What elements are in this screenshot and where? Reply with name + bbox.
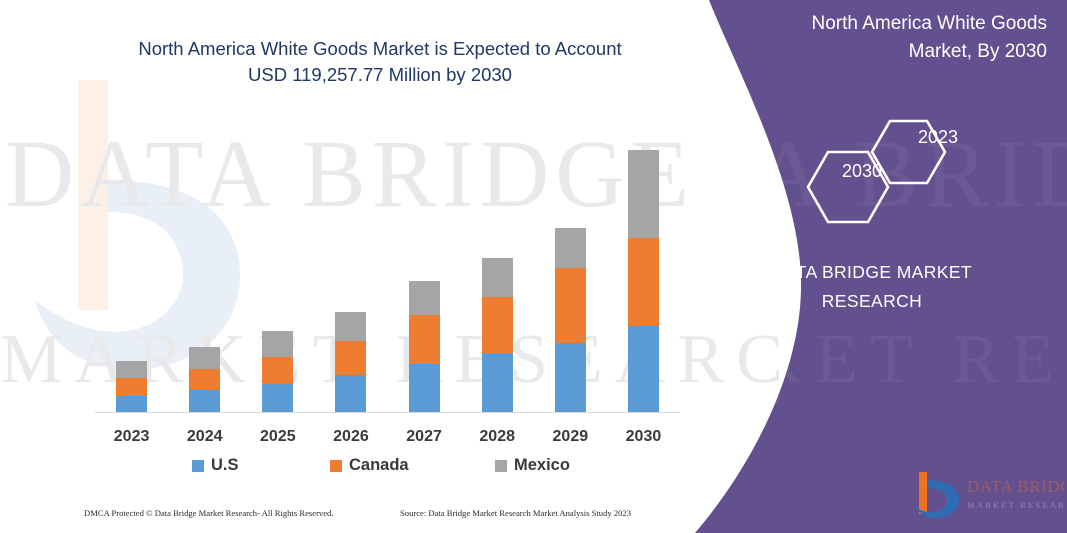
logo-text-line-1: DATA BRIDGE bbox=[967, 477, 1065, 496]
legend-swatch-icon bbox=[192, 460, 204, 472]
side-panel-content: DATA BRIDGE MARKET RESEARCH North Americ… bbox=[677, 0, 1067, 533]
chart-title-line-1: North America White Goods Market is Expe… bbox=[60, 36, 700, 62]
logo-mark bbox=[915, 472, 959, 518]
bar-segment-2027-canada bbox=[409, 315, 440, 364]
legend-label: Mexico bbox=[514, 456, 570, 475]
legend-swatch-icon bbox=[330, 460, 342, 472]
bar-2029 bbox=[555, 228, 586, 412]
bar-segment-2030-us bbox=[628, 326, 659, 412]
chart-legend: U.SCanadaMexico bbox=[95, 456, 685, 480]
x-axis-label-2025: 2025 bbox=[242, 428, 313, 446]
side-panel-brand-line-2: RESEARCH bbox=[722, 287, 1022, 316]
bar-2030 bbox=[628, 150, 659, 412]
bar-segment-2029-mexico bbox=[555, 228, 586, 268]
bar-segment-2028-mexico bbox=[482, 258, 513, 297]
side-panel-brand-line-1: DATA BRIDGE MARKET bbox=[722, 258, 1022, 287]
bar-segment-2028-canada bbox=[482, 297, 513, 353]
bar-segment-2024-mexico bbox=[189, 347, 220, 369]
side-panel-brand: DATA BRIDGE MARKET RESEARCH bbox=[722, 258, 1022, 316]
x-axis-labels: 20232024202520262027202820292030 bbox=[95, 428, 680, 452]
chart-title-line-2: USD 119,257.77 Million by 2030 bbox=[60, 62, 700, 88]
data-bridge-logo: DATA BRIDGE MARKET RESEARCH bbox=[905, 466, 1065, 528]
bar-2025 bbox=[262, 331, 293, 412]
chart-plot-area bbox=[95, 120, 680, 413]
bar-2027 bbox=[409, 281, 440, 412]
bar-segment-2026-us bbox=[335, 375, 366, 412]
bar-segment-2029-us bbox=[555, 343, 586, 412]
footer-copyright: DMCA Protected © Data Bridge Market Rese… bbox=[84, 508, 334, 518]
legend-swatch-icon bbox=[495, 460, 507, 472]
side-panel: DATA BRIDGE MARKET RESEARCH North Americ… bbox=[677, 0, 1067, 533]
bar-segment-2029-canada bbox=[555, 268, 586, 343]
x-axis-label-2024: 2024 bbox=[169, 428, 240, 446]
x-axis-label-2026: 2026 bbox=[315, 428, 386, 446]
bar-2023 bbox=[116, 361, 147, 412]
bar-segment-2023-mexico bbox=[116, 361, 147, 378]
bar-2026 bbox=[335, 312, 366, 412]
x-axis-line bbox=[95, 412, 680, 413]
bar-segment-2025-canada bbox=[262, 357, 293, 384]
side-panel-title-line-1: North America White Goods bbox=[767, 10, 1047, 38]
bar-segment-2025-mexico bbox=[262, 331, 293, 357]
bar-segment-2026-canada bbox=[335, 341, 366, 375]
bar-segment-2025-us bbox=[262, 384, 293, 412]
legend-item-canada[interactable]: Canada bbox=[330, 456, 409, 475]
x-axis-label-2027: 2027 bbox=[389, 428, 460, 446]
bar-segment-2023-canada bbox=[116, 378, 147, 396]
legend-label: U.S bbox=[211, 456, 239, 475]
bar-segment-2028-us bbox=[482, 353, 513, 412]
hexagon-shapes bbox=[785, 104, 1015, 224]
bar-segment-2030-mexico bbox=[628, 150, 659, 238]
x-axis-label-2030: 2030 bbox=[608, 428, 679, 446]
bar-segment-2024-canada bbox=[189, 369, 220, 390]
logo-text-line-2: MARKET RESEARCH bbox=[967, 500, 1065, 510]
side-panel-watermark-2: MARKET RESEARCH bbox=[677, 320, 977, 400]
x-axis-label-2029: 2029 bbox=[535, 428, 606, 446]
chart-title: North America White Goods Market is Expe… bbox=[60, 36, 700, 88]
legend-item-mexico[interactable]: Mexico bbox=[495, 456, 570, 475]
hexagon-2023-shape bbox=[872, 121, 945, 183]
bar-segment-2027-us bbox=[409, 364, 440, 412]
side-panel-title: North America White Goods Market, By 203… bbox=[767, 10, 1047, 66]
footer: DMCA Protected © Data Bridge Market Rese… bbox=[0, 508, 700, 524]
legend-item-us[interactable]: U.S bbox=[192, 456, 239, 475]
bar-segment-2023-us bbox=[116, 396, 147, 412]
bar-segment-2024-us bbox=[189, 390, 220, 412]
bar-segment-2030-canada bbox=[628, 238, 659, 326]
footer-source: Source: Data Bridge Market Research Mark… bbox=[400, 508, 631, 518]
bar-2024 bbox=[189, 347, 220, 412]
hexagon-2030-shape bbox=[808, 152, 888, 222]
infographic-root: DATA BRIDGE MARKET RESEARCH North Americ… bbox=[0, 0, 1067, 533]
hexagon-group: 2030 2023 bbox=[785, 104, 1015, 224]
bar-segment-2026-mexico bbox=[335, 312, 366, 341]
side-panel-title-line-2: Market, By 2030 bbox=[767, 38, 1047, 66]
bar-segment-2027-mexico bbox=[409, 281, 440, 315]
x-axis-label-2028: 2028 bbox=[462, 428, 533, 446]
x-axis-label-2023: 2023 bbox=[96, 428, 167, 446]
bar-2028 bbox=[482, 258, 513, 412]
legend-label: Canada bbox=[349, 456, 409, 475]
